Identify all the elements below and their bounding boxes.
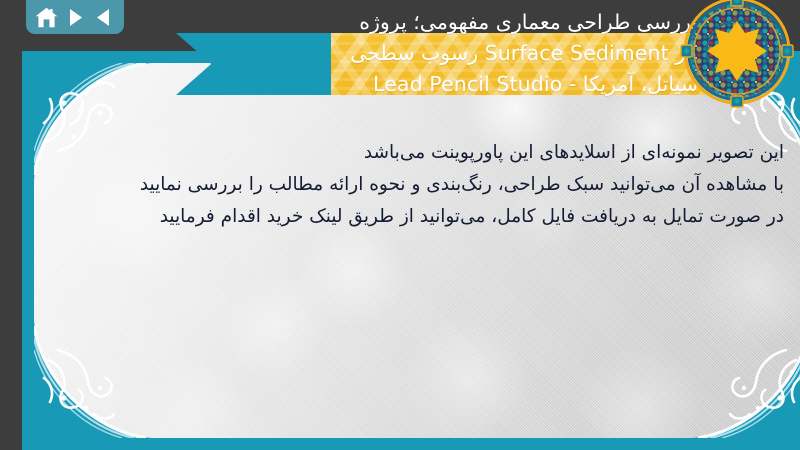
slide-navigation-bar [26, 0, 124, 34]
triangle-right-icon [66, 8, 84, 27]
previous-slide-button[interactable] [91, 5, 117, 29]
page-title: بررسی طراحی معماری مفهومی؛ پروژه اثر Sur… [198, 7, 698, 100]
slide-preview-window: بررسی طراحی معماری مفهومی؛ پروژه اثر Sur… [0, 0, 800, 450]
page-title-line-2: اثر Surface Sediment رسوب سطحی [198, 38, 698, 69]
home-button[interactable] [33, 5, 59, 29]
slide-body-line-3: در صورت تمایل به دریافت فایل کامل، می‌تو… [66, 201, 784, 233]
next-slide-button[interactable] [62, 5, 88, 29]
corner-ornament-bottom-right [692, 320, 800, 438]
corner-ornament-bottom-left [34, 320, 152, 438]
page-title-line-3: سیاتل، آمریکا - Lead Pencil Studio [198, 69, 698, 100]
slide-body-text: این تصویر نمونه‌ای از اسلایدهای این پاور… [66, 137, 784, 233]
slide-title-ribbon: بررسی طراحی معماری مفهومی؛ پروژه اثر Sur… [176, 33, 746, 95]
slide-canvas: این تصویر نمونه‌ای از اسلایدهای این پاور… [34, 63, 800, 438]
triangle-left-icon [95, 8, 113, 27]
page-title-line-1: بررسی طراحی معماری مفهومی؛ پروژه [198, 7, 698, 38]
slide-body-line-2: با مشاهده آن می‌توانید سبک طراحی، رنگ‌بن… [66, 169, 784, 201]
slide-frame: این تصویر نمونه‌ای از اسلایدهای این پاور… [22, 51, 800, 450]
persian-medallion-ornament [678, 0, 796, 110]
home-icon [35, 7, 58, 28]
slide-body-line-1: این تصویر نمونه‌ای از اسلایدهای این پاور… [66, 137, 784, 169]
